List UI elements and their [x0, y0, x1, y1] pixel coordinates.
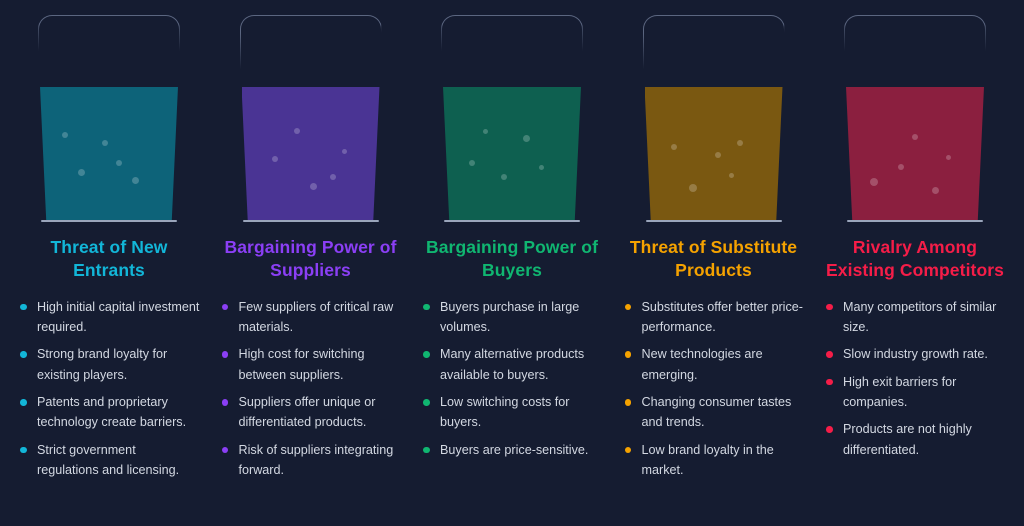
list-item: New technologies are emerging.: [623, 344, 805, 385]
porters-five-forces-board: Threat of New EntrantsHigh initial capit…: [0, 0, 1024, 526]
glass-shape: [844, 15, 986, 222]
force-title-threat-of-new-entrants: Threat of New Entrants: [19, 236, 199, 283]
list-item-label: Strict government regulations and licens…: [37, 443, 179, 477]
bullet-dot-icon: [826, 304, 833, 311]
list-item-label: Substitutes offer better price-performan…: [642, 300, 803, 334]
list-item-label: Buyers purchase in large volumes.: [440, 300, 579, 334]
list-item-label: High exit barriers for companies.: [843, 375, 956, 409]
list-item-label: High cost for switching between supplier…: [239, 347, 365, 381]
list-item-label: Strong brand loyalty for existing player…: [37, 347, 167, 381]
list-item: High exit barriers for companies.: [824, 372, 1006, 413]
list-item: Suppliers offer unique or differentiated…: [220, 392, 402, 433]
force-points-threat-of-new-entrants: High initial capital investment required…: [18, 297, 200, 488]
glass-base: [444, 220, 580, 223]
bullet-dot-icon: [20, 351, 27, 358]
bullet-dot-icon: [222, 399, 229, 406]
bullet-dot-icon: [222, 447, 229, 454]
list-item: Risk of suppliers integrating forward.: [220, 440, 402, 481]
list-item: Buyers purchase in large volumes.: [421, 297, 603, 338]
bullet-dot-icon: [625, 304, 632, 311]
list-item: Substitutes offer better price-performan…: [623, 297, 805, 338]
glass-outline: [844, 15, 986, 220]
force-column-bargaining-power-of-buyers: Bargaining Power of BuyersBuyers purchas…: [417, 0, 607, 467]
bullet-dot-icon: [826, 426, 833, 433]
list-item: Products are not highly differentiated.: [824, 419, 1006, 460]
bullet-dot-icon: [826, 351, 833, 358]
bullet-dot-icon: [222, 351, 229, 358]
glass-base: [41, 220, 177, 223]
glass-bargaining-power-of-buyers: [417, 0, 607, 228]
list-item: Low brand loyalty in the market.: [623, 440, 805, 481]
glass-shape: [643, 15, 785, 222]
bullet-dot-icon: [625, 351, 632, 358]
list-item-label: Patents and proprietary technology creat…: [37, 395, 186, 429]
glass-shape: [441, 15, 583, 222]
bullet-dot-icon: [20, 399, 27, 406]
list-item-label: Many competitors of similar size.: [843, 300, 996, 334]
list-item: Strong brand loyalty for existing player…: [18, 344, 200, 385]
list-item: Changing consumer tastes and trends.: [623, 392, 805, 433]
bullet-dot-icon: [20, 447, 27, 454]
bullet-dot-icon: [625, 447, 632, 454]
list-item-label: High initial capital investment required…: [37, 300, 199, 334]
glass-base: [243, 220, 379, 223]
glass-threat-of-new-entrants: [14, 0, 204, 228]
list-item: High initial capital investment required…: [18, 297, 200, 338]
list-item-label: Risk of suppliers integrating forward.: [239, 443, 394, 477]
force-title-rivalry-among-existing-competitors: Rivalry Among Existing Competitors: [825, 236, 1005, 283]
glass-base: [646, 220, 782, 223]
force-points-threat-of-substitute-products: Substitutes offer better price-performan…: [623, 297, 805, 488]
force-points-bargaining-power-of-suppliers: Few suppliers of critical raw materials.…: [220, 297, 402, 488]
list-item: Buyers are price-sensitive.: [421, 440, 603, 460]
force-points-rivalry-among-existing-competitors: Many competitors of similar size.Slow in…: [824, 297, 1006, 468]
force-title-threat-of-substitute-products: Threat of Substitute Products: [624, 236, 804, 283]
list-item-label: New technologies are emerging.: [642, 347, 763, 381]
glass-outline: [441, 15, 583, 220]
list-item-label: Low switching costs for buyers.: [440, 395, 570, 429]
glass-base: [847, 220, 983, 223]
list-item-label: Low brand loyalty in the market.: [642, 443, 774, 477]
glass-bargaining-power-of-suppliers: [216, 0, 406, 228]
list-item-label: Products are not highly differentiated.: [843, 422, 972, 456]
bullet-dot-icon: [625, 399, 632, 406]
list-item: Few suppliers of critical raw materials.: [220, 297, 402, 338]
bullet-dot-icon: [423, 304, 430, 311]
force-column-rivalry-among-existing-competitors: Rivalry Among Existing CompetitorsMany c…: [820, 0, 1010, 467]
list-item-label: Few suppliers of critical raw materials.: [239, 300, 394, 334]
list-item: Strict government regulations and licens…: [18, 440, 200, 481]
list-item-label: Many alternative products available to b…: [440, 347, 584, 381]
bullet-dot-icon: [20, 304, 27, 311]
list-item-label: Changing consumer tastes and trends.: [642, 395, 792, 429]
list-item-label: Slow industry growth rate.: [843, 347, 988, 361]
bullet-dot-icon: [423, 399, 430, 406]
force-title-bargaining-power-of-buyers: Bargaining Power of Buyers: [422, 236, 602, 283]
bullet-dot-icon: [423, 351, 430, 358]
bullet-dot-icon: [826, 379, 833, 386]
glass-outline: [240, 15, 382, 220]
glass-threat-of-substitute-products: [619, 0, 809, 228]
list-item: Many alternative products available to b…: [421, 344, 603, 385]
bullet-dot-icon: [423, 447, 430, 454]
force-title-bargaining-power-of-suppliers: Bargaining Power of Suppliers: [221, 236, 401, 283]
list-item: High cost for switching between supplier…: [220, 344, 402, 385]
force-points-bargaining-power-of-buyers: Buyers purchase in large volumes.Many al…: [421, 297, 603, 468]
list-item: Patents and proprietary technology creat…: [18, 392, 200, 433]
glass-outline: [643, 15, 785, 220]
bullet-dot-icon: [222, 304, 229, 311]
glass-shape: [240, 15, 382, 222]
list-item-label: Buyers are price-sensitive.: [440, 443, 588, 457]
force-column-threat-of-substitute-products: Threat of Substitute ProductsSubstitutes…: [619, 0, 809, 488]
force-column-threat-of-new-entrants: Threat of New EntrantsHigh initial capit…: [14, 0, 204, 488]
glass-outline: [38, 15, 180, 220]
force-column-bargaining-power-of-suppliers: Bargaining Power of SuppliersFew supplie…: [216, 0, 406, 488]
list-item: Many competitors of similar size.: [824, 297, 1006, 338]
list-item-label: Suppliers offer unique or differentiated…: [239, 395, 376, 429]
list-item: Low switching costs for buyers.: [421, 392, 603, 433]
list-item: Slow industry growth rate.: [824, 344, 1006, 364]
glass-rivalry-among-existing-competitors: [820, 0, 1010, 228]
glass-shape: [38, 15, 180, 222]
